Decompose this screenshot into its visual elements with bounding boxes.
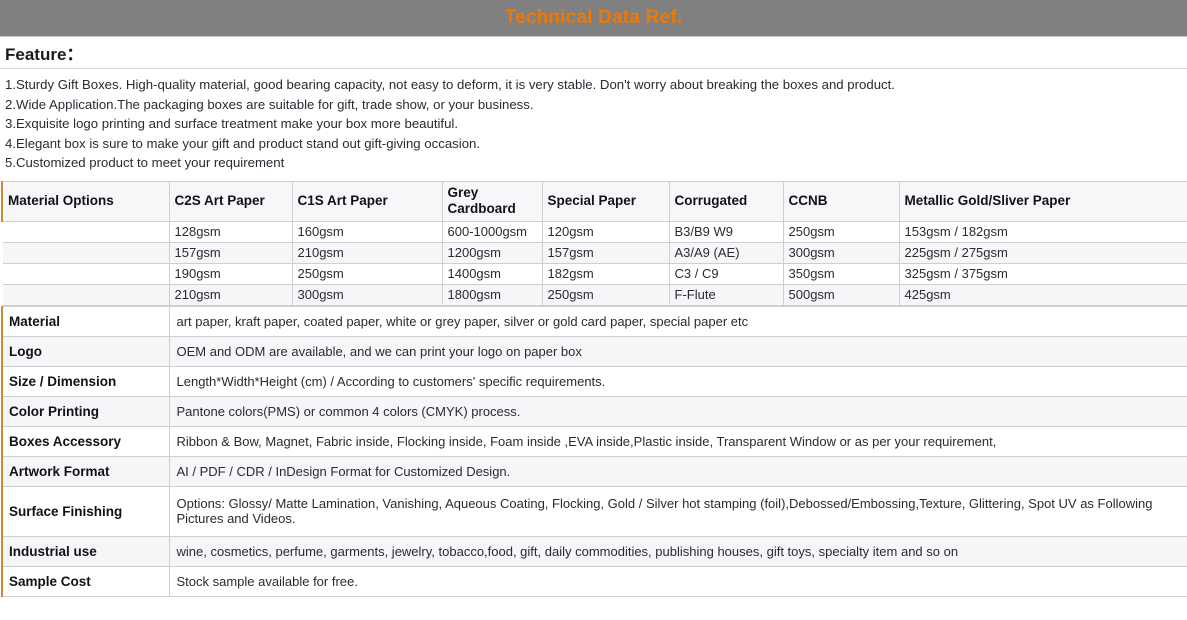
spec-row-material: Material art paper, kraft paper, coated … — [2, 306, 1187, 336]
cell-special-paper: 250gsm — [542, 284, 669, 305]
cell-c2s: 128gsm — [169, 221, 292, 242]
cell-grey-cardboard: 1800gsm — [442, 284, 542, 305]
spec-label: Sample Cost — [2, 566, 169, 596]
specification-table: Material art paper, kraft paper, coated … — [1, 306, 1187, 597]
cell-corrugated: C3 / C9 — [669, 263, 783, 284]
spec-value: Stock sample available for free. — [169, 566, 1187, 596]
cell-material-options — [2, 221, 169, 242]
column-header-material-options: Material Options — [2, 181, 169, 221]
cell-corrugated: B3/B9 W9 — [669, 221, 783, 242]
feature-item: 5.Customized product to meet your requir… — [5, 153, 1182, 173]
cell-corrugated: F-Flute — [669, 284, 783, 305]
cell-c1s: 160gsm — [292, 221, 442, 242]
cell-material-options — [2, 284, 169, 305]
spec-row-size-dimension: Size / Dimension Length*Width*Height (cm… — [2, 366, 1187, 396]
spec-label: Surface Finishing — [2, 486, 169, 536]
column-header-c1s-art-paper: C1S Art Paper — [292, 181, 442, 221]
cell-material-options — [2, 263, 169, 284]
column-header-c2s-art-paper: C2S Art Paper — [169, 181, 292, 221]
table-row: 210gsm 300gsm 1800gsm 250gsm F-Flute 500… — [2, 284, 1187, 305]
spec-row-boxes-accessory: Boxes Accessory Ribbon & Bow, Magnet, Fa… — [2, 426, 1187, 456]
column-header-metallic-gold-sliver-paper: Metallic Gold/Sliver Paper — [899, 181, 1187, 221]
cell-c1s: 210gsm — [292, 242, 442, 263]
cell-corrugated: A3/A9 (AE) — [669, 242, 783, 263]
cell-c2s: 210gsm — [169, 284, 292, 305]
spec-value: Options: Glossy/ Matte Lamination, Vanis… — [169, 486, 1187, 536]
cell-metallic: 425gsm — [899, 284, 1187, 305]
spec-label: Color Printing — [2, 396, 169, 426]
title-banner: Technical Data Ref. — [0, 0, 1187, 37]
feature-item: 1.Sturdy Gift Boxes. High-quality materi… — [5, 75, 1182, 95]
spec-label: Boxes Accessory — [2, 426, 169, 456]
column-header-ccnb: CCNB — [783, 181, 899, 221]
material-options-table: Material Options C2S Art Paper C1S Art P… — [1, 181, 1187, 306]
spec-value: Pantone colors(PMS) or common 4 colors (… — [169, 396, 1187, 426]
spec-label: Logo — [2, 336, 169, 366]
column-header-special-paper: Special Paper — [542, 181, 669, 221]
cell-c2s: 157gsm — [169, 242, 292, 263]
cell-ccnb: 500gsm — [783, 284, 899, 305]
cell-metallic: 325gsm / 375gsm — [899, 263, 1187, 284]
cell-c2s: 190gsm — [169, 263, 292, 284]
cell-ccnb: 350gsm — [783, 263, 899, 284]
spec-value: OEM and ODM are available, and we can pr… — [169, 336, 1187, 366]
table-row: 128gsm 160gsm 600-1000gsm 120gsm B3/B9 W… — [2, 221, 1187, 242]
cell-c1s: 300gsm — [292, 284, 442, 305]
spec-row-sample-cost: Sample Cost Stock sample available for f… — [2, 566, 1187, 596]
spec-value: Ribbon & Bow, Magnet, Fabric inside, Flo… — [169, 426, 1187, 456]
feature-item: 3.Exquisite logo printing and surface tr… — [5, 114, 1182, 134]
cell-material-options — [2, 242, 169, 263]
cell-ccnb: 300gsm — [783, 242, 899, 263]
spec-row-logo: Logo OEM and ODM are available, and we c… — [2, 336, 1187, 366]
column-header-corrugated: Corrugated — [669, 181, 783, 221]
cell-grey-cardboard: 1400gsm — [442, 263, 542, 284]
cell-ccnb: 250gsm — [783, 221, 899, 242]
cell-c1s: 250gsm — [292, 263, 442, 284]
spec-value: AI / PDF / CDR / InDesign Format for Cus… — [169, 456, 1187, 486]
spec-value: wine, cosmetics, perfume, garments, jewe… — [169, 536, 1187, 566]
spec-label: Size / Dimension — [2, 366, 169, 396]
table-header-row: Material Options C2S Art Paper C1S Art P… — [2, 181, 1187, 221]
cell-special-paper: 157gsm — [542, 242, 669, 263]
spec-row-surface-finishing: Surface Finishing Options: Glossy/ Matte… — [2, 486, 1187, 536]
table-row: 157gsm 210gsm 1200gsm 157gsm A3/A9 (AE) … — [2, 242, 1187, 263]
table-row: 190gsm 250gsm 1400gsm 182gsm C3 / C9 350… — [2, 263, 1187, 284]
spec-label: Industrial use — [2, 536, 169, 566]
spec-row-artwork-format: Artwork Format AI / PDF / CDR / InDesign… — [2, 456, 1187, 486]
spec-row-color-printing: Color Printing Pantone colors(PMS) or co… — [2, 396, 1187, 426]
column-header-grey-cardboard: Grey Cardboard — [442, 181, 542, 221]
page-title: Technical Data Ref. — [505, 7, 683, 29]
feature-list: 1.Sturdy Gift Boxes. High-quality materi… — [0, 69, 1187, 177]
cell-special-paper: 120gsm — [542, 221, 669, 242]
cell-grey-cardboard: 1200gsm — [442, 242, 542, 263]
feature-heading-row: Feature： — [0, 37, 1187, 69]
cell-metallic: 153gsm / 182gsm — [899, 221, 1187, 242]
spec-value: Length*Width*Height (cm) / According to … — [169, 366, 1187, 396]
technical-data-sheet: Technical Data Ref. Feature： 1.Sturdy Gi… — [0, 0, 1187, 620]
feature-heading: Feature： — [5, 40, 83, 65]
feature-item: 4.Elegant box is sure to make your gift … — [5, 134, 1182, 154]
feature-item: 2.Wide Application.The packaging boxes a… — [5, 95, 1182, 115]
cell-metallic: 225gsm / 275gsm — [899, 242, 1187, 263]
spec-value: art paper, kraft paper, coated paper, wh… — [169, 306, 1187, 336]
spec-row-industrial-use: Industrial use wine, cosmetics, perfume,… — [2, 536, 1187, 566]
cell-grey-cardboard: 600-1000gsm — [442, 221, 542, 242]
cell-special-paper: 182gsm — [542, 263, 669, 284]
spec-label: Artwork Format — [2, 456, 169, 486]
spec-label: Material — [2, 306, 169, 336]
